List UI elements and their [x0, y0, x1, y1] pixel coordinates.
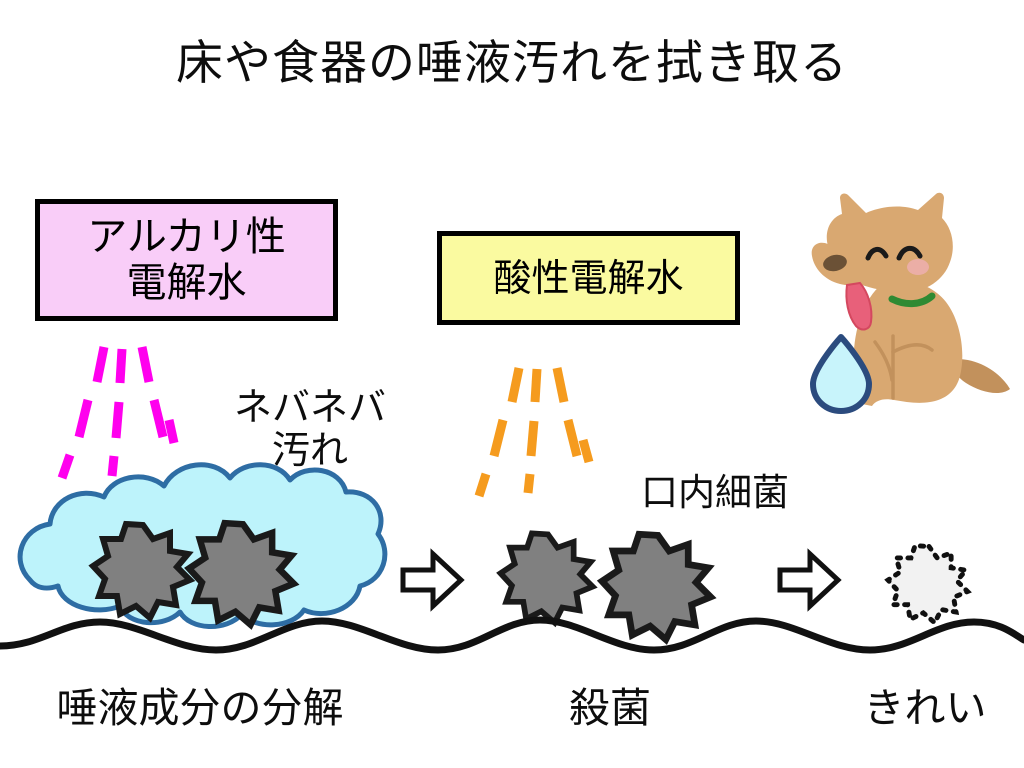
faded-germ-burst-icon: [888, 546, 968, 623]
germ-burst-icon: [501, 533, 593, 622]
acid-water-line1: 酸性電解水: [493, 256, 683, 300]
sticky-dirt-label-line1: ネバネバ: [234, 385, 386, 429]
sticky-dirt-label-line2: 汚れ: [272, 428, 348, 472]
sticky-dirt-label: ネバネバ 汚れ: [200, 386, 420, 473]
dog-tongue: [846, 283, 871, 329]
caption-stage-2: 殺菌: [470, 686, 750, 731]
dog-cheek: [907, 259, 929, 275]
acid-spray-icon: [479, 368, 589, 496]
acid-water-box[interactable]: 酸性電解水: [437, 231, 740, 325]
caption-stage-1: 唾液成分の分解: [10, 686, 390, 731]
oral-bacteria-label: 口内細菌: [605, 472, 825, 514]
dog-tail: [954, 359, 1010, 393]
alkaline-spray-icon: [62, 347, 174, 478]
alkaline-water-line2: 電解水: [127, 260, 247, 306]
dog-illustration: [812, 193, 1010, 411]
germ-burst-icon: [602, 534, 711, 639]
illustration-layer: [0, 0, 1024, 768]
alkaline-water-line1: アルカリ性: [87, 214, 285, 260]
stage-arrow-icon: [780, 554, 838, 606]
caption-stage-3: きれい: [810, 686, 1024, 731]
stage-arrow-icon: [403, 554, 461, 606]
alkaline-water-box[interactable]: アルカリ性 電解水: [35, 199, 338, 321]
slide-canvas: 床や食器の唾液汚れを拭き取る: [0, 0, 1024, 768]
